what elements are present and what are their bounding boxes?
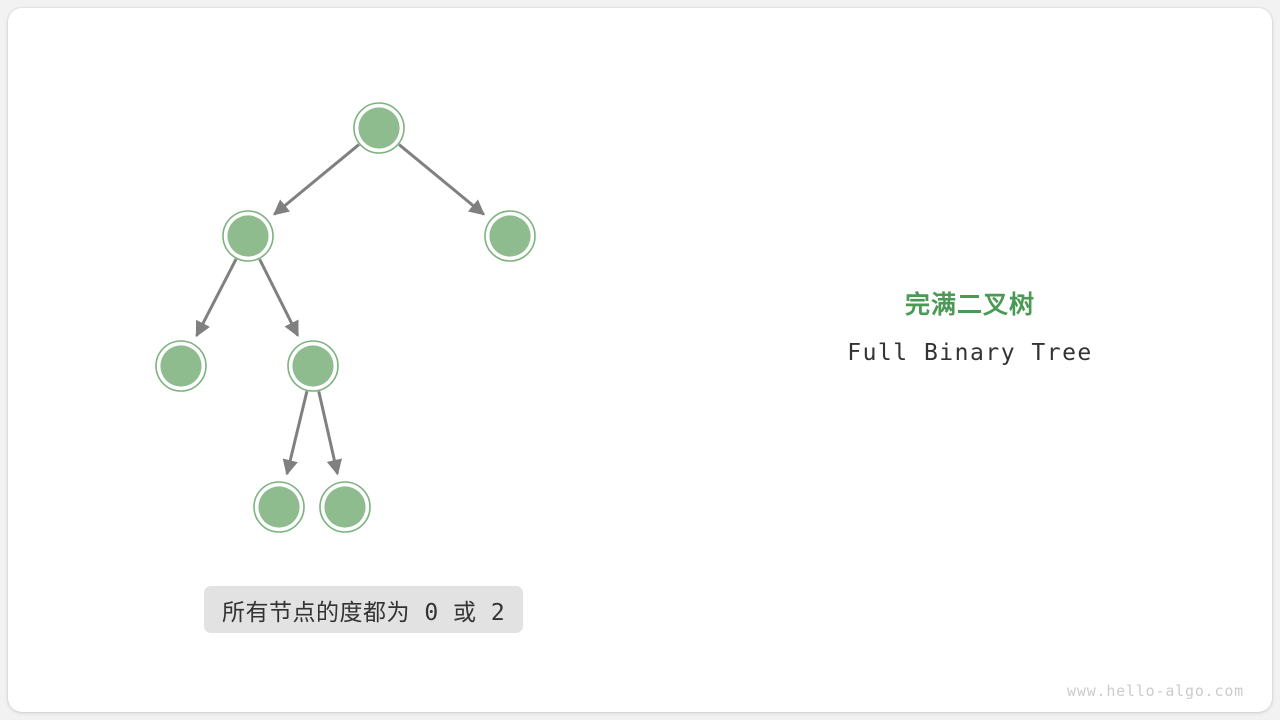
tree-node[interactable] [254,482,304,532]
tree-node-disc [258,486,299,527]
watermark-text: www.hello-algo.com [1067,682,1244,700]
tree-node[interactable] [354,103,404,153]
tree-edge [274,145,359,215]
node-layer [156,103,535,532]
tree-edge [287,391,307,474]
diagram-title: 完满二叉树 [790,290,1150,320]
tree-node-disc [292,345,333,386]
tree-edge [260,259,298,335]
legend-block: 完满二叉树 Full Binary Tree [790,290,1150,366]
tree-node[interactable] [223,211,273,261]
tree-node[interactable] [485,211,535,261]
caption-badge: 所有节点的度都为 0 或 2 [204,586,523,633]
caption-text: 所有节点的度都为 0 或 2 [222,593,505,627]
tree-node[interactable] [320,482,370,532]
tree-node-disc [324,486,365,527]
tree-node-disc [489,215,530,256]
tree-edge [319,391,338,473]
tree-node-disc [160,345,201,386]
tree-node[interactable] [156,341,206,391]
tree-node-disc [227,215,268,256]
edge-layer [197,145,484,474]
tree-node[interactable] [288,341,338,391]
tree-edge [399,145,484,215]
diagram-screen: 完满二叉树 Full Binary Tree 所有节点的度都为 0 或 2 ww… [0,0,1280,720]
tree-edge [197,259,237,336]
diagram-subtitle: Full Binary Tree [790,340,1150,366]
tree-node-disc [358,107,399,148]
